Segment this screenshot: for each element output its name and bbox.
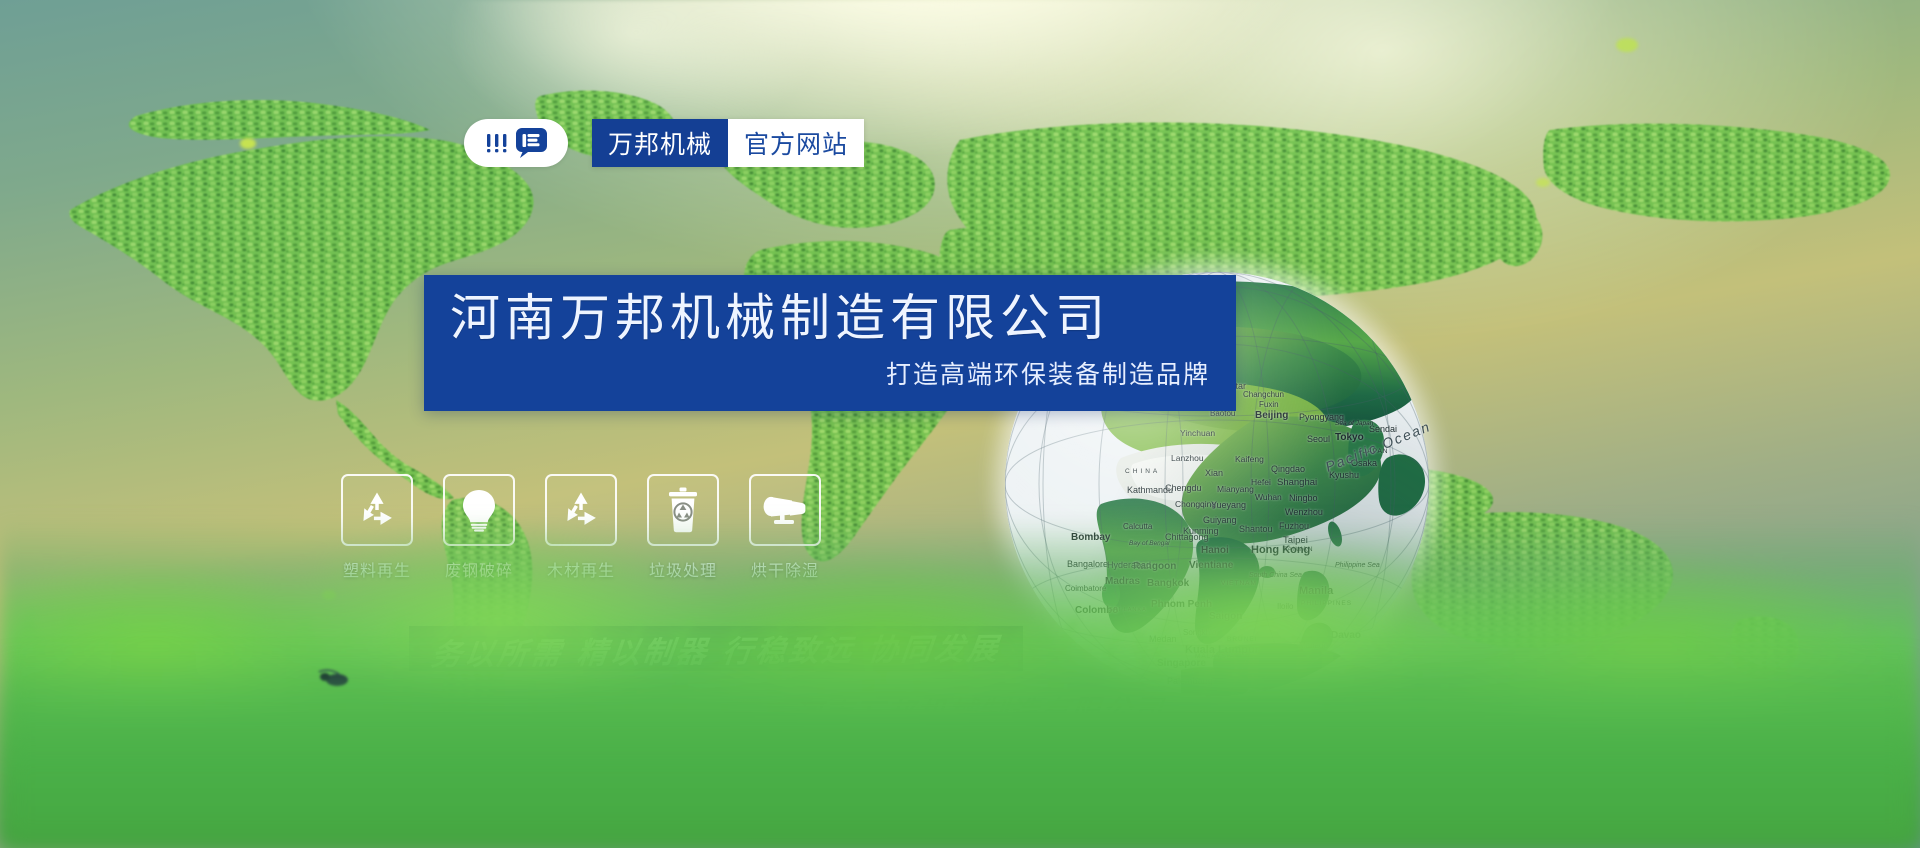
brand-chip-secondary[interactable]: 官方网站 xyxy=(728,119,864,167)
page-subtitle: 打造高端环保装备制造品牌 xyxy=(450,355,1210,391)
site-logo-bar[interactable]: 万邦机械 官方网站 xyxy=(464,119,864,167)
hero-banner: Ulaanbaatar Beijing Baotou Yinchuan Lanz… xyxy=(0,0,1920,848)
page-title: 河南万邦机械制造有限公司 xyxy=(450,292,1210,345)
w-monogram-icon xyxy=(484,130,510,156)
wb-logo-badge[interactable] xyxy=(464,119,568,167)
company-title-panel: 河南万邦机械制造有限公司 打造高端环保装备制造品牌 xyxy=(424,275,1236,411)
grass-foreground-blur xyxy=(0,658,1920,848)
brand-chip-primary[interactable]: 万邦机械 xyxy=(592,119,728,167)
bokeh-fleck xyxy=(1536,178,1550,187)
bokeh-fleck xyxy=(1616,38,1638,52)
b-speech-bubble-icon xyxy=(514,127,548,159)
bokeh-fleck xyxy=(240,138,256,149)
brand-name-chip[interactable]: 万邦机械 官方网站 xyxy=(592,119,864,167)
